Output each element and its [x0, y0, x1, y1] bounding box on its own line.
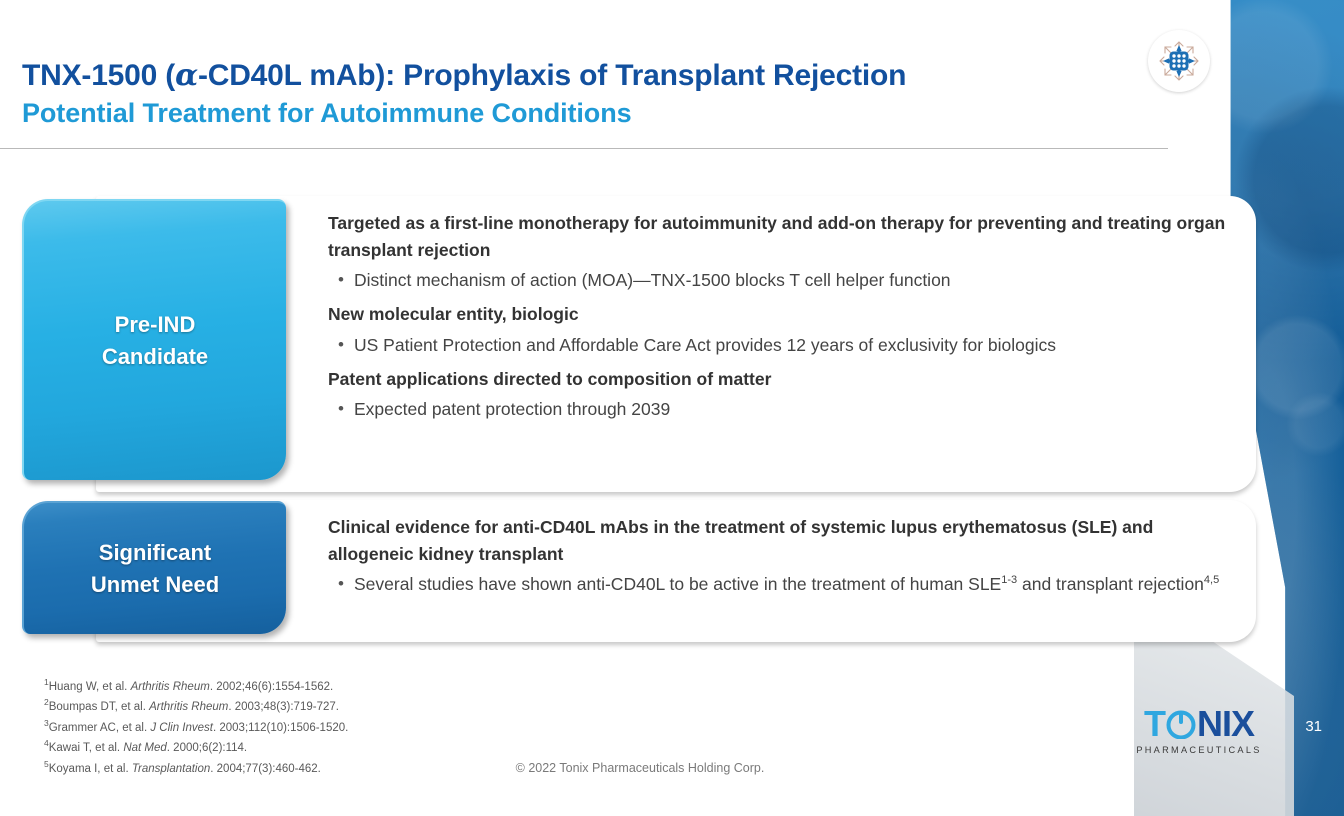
- section-heading: New molecular entity, biologic: [328, 301, 1230, 328]
- molecule-snowflake-icon: [1148, 30, 1210, 92]
- list-item: • Several studies have shown anti-CD40L …: [328, 571, 1230, 598]
- title-divider: [0, 148, 1168, 149]
- list-item: • Expected patent protection through 203…: [328, 396, 1230, 423]
- tag-pre-ind-candidate-label: Pre-IND Candidate: [102, 309, 208, 373]
- content-body-unmet-need: Clinical evidence for anti-CD40L mAbs in…: [328, 514, 1230, 605]
- section-heading: Targeted as a first-line monotherapy for…: [328, 210, 1230, 264]
- list-item-text: Several studies have shown anti-CD40L to…: [354, 571, 1230, 598]
- tag-line-2: Unmet Need: [91, 569, 219, 601]
- list-item: • US Patient Protection and Affordable C…: [328, 332, 1230, 359]
- title-suffix: -CD40L mAb): Prophylaxis of Transplant R…: [198, 59, 906, 92]
- tag-pre-ind-candidate[interactable]: Pre-IND Candidate: [22, 199, 286, 480]
- bullet-icon: •: [328, 571, 354, 598]
- tag-significant-unmet-need-label: Significant Unmet Need: [91, 537, 219, 601]
- tag-significant-unmet-need[interactable]: Significant Unmet Need: [22, 501, 286, 634]
- tonix-wordmark: T NIX: [1124, 706, 1274, 742]
- logo-subtitle: PHARMACEUTICALS: [1124, 745, 1274, 755]
- list-item-text: Distinct mechanism of action (MOA)—TNX-1…: [354, 267, 1230, 294]
- page-title: TNX-1500 (α-CD40L mAb): Prophylaxis of T…: [22, 58, 906, 130]
- footnote-item: 2Boumpas DT, et al. Arthritis Rheum. 200…: [44, 696, 348, 716]
- logo-letter-t: T: [1144, 706, 1165, 742]
- slide: IMMUNOLOGY PORTFOLIO 31 TNX-1500 (α-CD40…: [0, 0, 1344, 816]
- power-button-o-icon: [1166, 709, 1196, 739]
- logo-letters-nix: NIX: [1197, 706, 1254, 742]
- alpha-symbol: α: [175, 58, 198, 93]
- footnote-item: 4Kawai T, et al. Nat Med. 2000;6(2):114.: [44, 737, 348, 757]
- title-line-2: Potential Treatment for Autoimmune Condi…: [22, 97, 906, 129]
- copyright-notice: © 2022 Tonix Pharmaceuticals Holding Cor…: [0, 761, 1280, 775]
- title-prefix: TNX-1500 (: [22, 59, 175, 92]
- tag-line-1: Pre-IND: [102, 309, 208, 341]
- bullet-icon: •: [328, 396, 354, 423]
- tonix-logo: T NIX PHARMACEUTICALS: [1124, 706, 1274, 755]
- bullet-icon: •: [328, 267, 354, 294]
- bullet-icon: •: [328, 332, 354, 359]
- footnote-item: 3Grammer AC, et al. J Clin Invest. 2003;…: [44, 717, 348, 737]
- content-body-pre-ind: Targeted as a first-line monotherapy for…: [328, 210, 1230, 430]
- list-item-text: US Patient Protection and Affordable Car…: [354, 332, 1230, 359]
- list-item-text: Expected patent protection through 2039: [354, 396, 1230, 423]
- tag-line-1: Significant: [91, 537, 219, 569]
- tag-line-2: Candidate: [102, 341, 208, 373]
- list-item: • Distinct mechanism of action (MOA)—TNX…: [328, 267, 1230, 294]
- footnote-item: 1Huang W, et al. Arthritis Rheum. 2002;4…: [44, 676, 348, 696]
- section-heading: Clinical evidence for anti-CD40L mAbs in…: [328, 514, 1230, 568]
- title-line-1: TNX-1500 (α-CD40L mAb): Prophylaxis of T…: [22, 58, 906, 93]
- section-heading: Patent applications directed to composit…: [328, 366, 1230, 393]
- slide-number: 31: [1305, 718, 1322, 735]
